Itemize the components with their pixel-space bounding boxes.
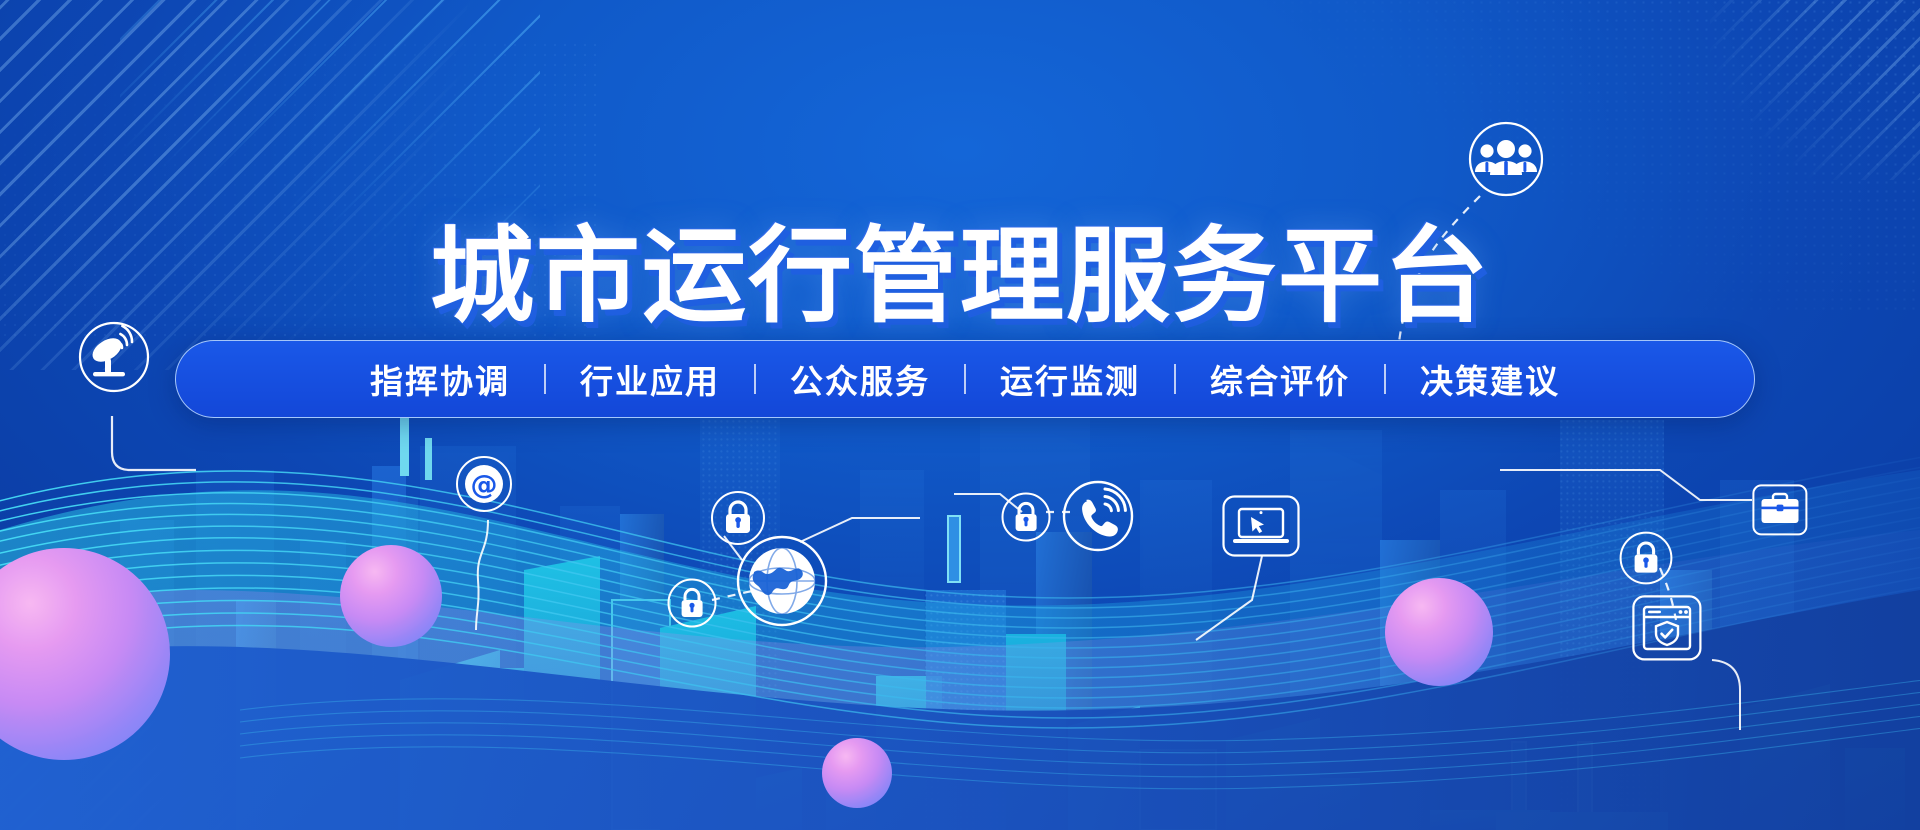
- nav-item-juece-jianyi[interactable]: 决策建议: [1386, 355, 1594, 403]
- nav-item-zonghe-pingjia[interactable]: 综合评价: [1176, 355, 1384, 403]
- lock-icon[interactable]: [1619, 531, 1673, 585]
- briefcase-icon[interactable]: [1752, 484, 1808, 536]
- primary-nav[interactable]: 指挥协调 行业应用 公众服务 运行监测 综合评价 决策建议: [175, 340, 1755, 418]
- laptop-cursor-icon[interactable]: [1222, 495, 1300, 557]
- at-sign-icon[interactable]: @: [455, 455, 513, 513]
- nav-item-hangye-yingyong[interactable]: 行业应用: [546, 355, 754, 403]
- nav-item-gongzhong-fuwu[interactable]: 公众服务: [756, 355, 964, 403]
- svg-text:@: @: [471, 470, 498, 501]
- nav-item-zhihui-xietiao[interactable]: 指挥协调: [336, 355, 544, 403]
- globe-icon[interactable]: [735, 534, 829, 628]
- phone-call-icon[interactable]: [1062, 480, 1134, 552]
- page-title: 城市运行管理服务平台: [0, 220, 1920, 332]
- banner-stage: @: [0, 0, 1920, 830]
- lock-icon[interactable]: [667, 578, 717, 628]
- lock-icon[interactable]: [1001, 492, 1051, 542]
- people-group-icon[interactable]: [1467, 120, 1545, 198]
- browser-shield-icon[interactable]: [1632, 595, 1702, 661]
- nav-item-yunxing-jiance[interactable]: 运行监测: [966, 355, 1174, 403]
